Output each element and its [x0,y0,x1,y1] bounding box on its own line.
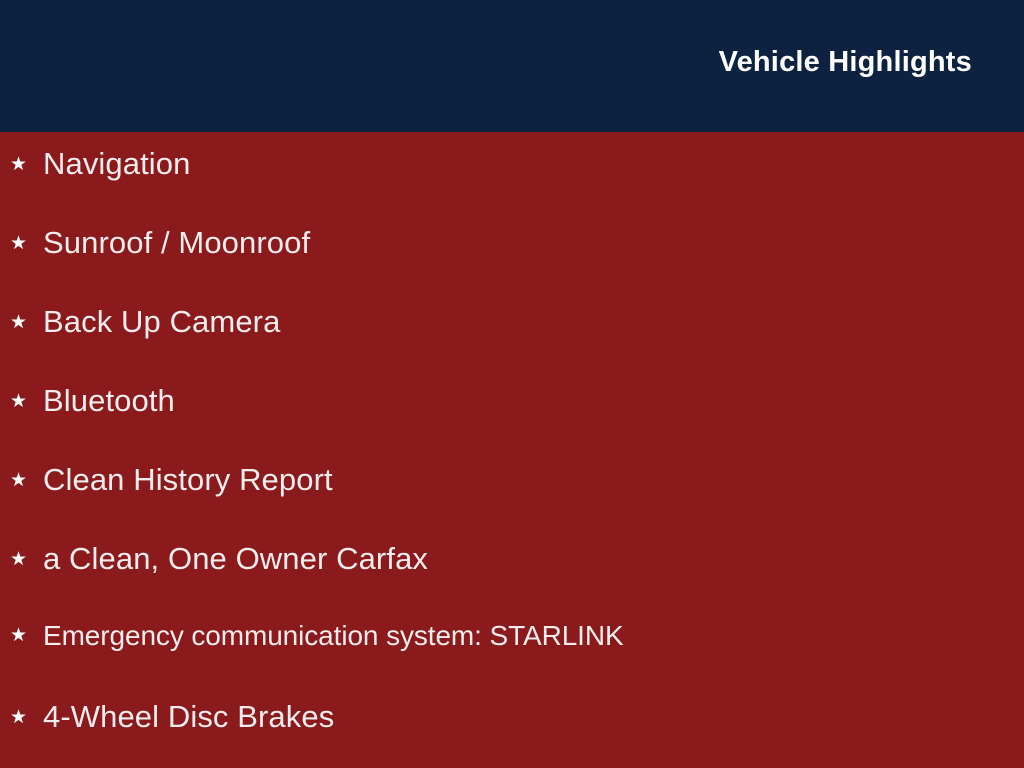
page-title: Vehicle Highlights [719,47,972,79]
list-item: ★ a Clean, One Owner Carfax [10,543,428,587]
highlight-label: 4-Wheel Disc Brakes [43,701,334,732]
star-bullet-icon: ★ [10,550,32,569]
list-item: ★ 4-Wheel Disc Brakes [10,701,334,745]
list-item: ★ Navigation [10,148,190,192]
star-bullet-icon: ★ [10,471,32,490]
star-bullet-icon: ★ [10,155,32,174]
highlight-label: Back Up Camera [43,306,280,337]
star-bullet-icon: ★ [10,313,32,332]
list-item: ★ Clean History Report [10,464,333,508]
star-bullet-icon: ★ [10,626,32,645]
star-bullet-icon: ★ [10,708,32,727]
star-bullet-icon: ★ [10,234,32,253]
star-bullet-icon: ★ [10,392,32,411]
highlight-label: Bluetooth [43,385,175,416]
header-band: Vehicle Highlights [0,0,1024,132]
list-item: ★ Emergency communication system: STARLI… [10,622,624,666]
list-item: ★ Back Up Camera [10,306,280,350]
highlight-label: a Clean, One Owner Carfax [43,543,428,574]
list-item: ★ Sunroof / Moonroof [10,227,310,271]
list-item: ★ Bluetooth [10,385,175,429]
highlight-label: Clean History Report [43,464,333,495]
vehicle-highlights-slide: Vehicle Highlights ★ Navigation ★ Sunroo… [0,0,1024,768]
highlight-label: Sunroof / Moonroof [43,227,310,258]
vehicle-highlights-list: ★ Navigation ★ Sunroof / Moonroof ★ Back… [0,132,1024,768]
highlight-label: Emergency communication system: STARLINK [43,622,624,650]
highlight-label: Navigation [43,148,190,179]
